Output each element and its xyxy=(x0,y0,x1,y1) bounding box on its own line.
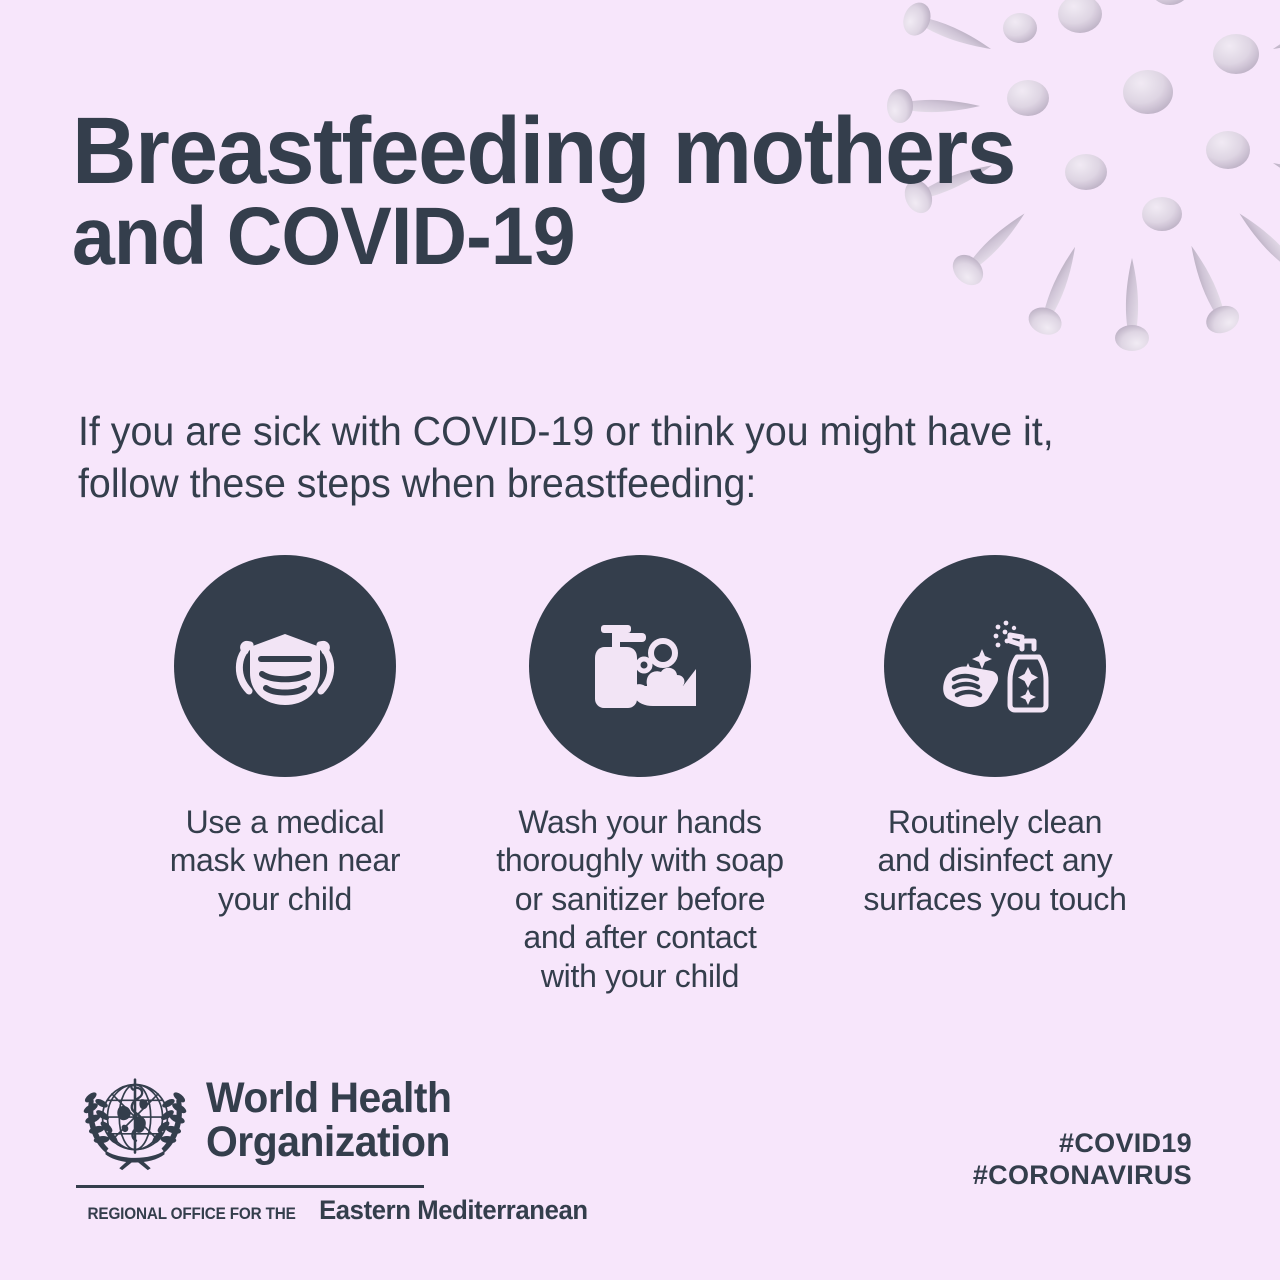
intro-line-2: follow these steps when breastfeeding: xyxy=(78,457,1124,509)
step-icon-circle xyxy=(174,555,396,777)
intro-line-1: If you are sick with COVID-19 or think y… xyxy=(78,405,1124,457)
spray-bottle-cleaning-icon xyxy=(930,601,1060,731)
caption-line: Routinely clean xyxy=(863,803,1126,841)
step-caption: Routinely clean and disinfect any surfac… xyxy=(863,803,1126,918)
who-name-line-1: World Health xyxy=(206,1077,451,1121)
who-wordmark: World Health Organization xyxy=(206,1077,451,1165)
hashtag-coronavirus: #CORONAVIRUS xyxy=(973,1160,1192,1192)
hashtags: #COVID19 #CORONAVIRUS xyxy=(973,1128,1192,1192)
who-divider xyxy=(76,1185,424,1188)
step-use-medical-mask: Use a medical mask when near your child xyxy=(108,555,463,918)
caption-line: with your child xyxy=(496,957,784,995)
hashtag-covid19: #COVID19 xyxy=(973,1128,1192,1160)
who-regional-office: REGIONAL OFFICE FOR THE Eastern Mediterr… xyxy=(76,1195,595,1226)
page-title: Breastfeeding mothers and COVID-19 xyxy=(72,108,1075,275)
caption-line: thoroughly with soap xyxy=(496,841,784,879)
caption-line: Use a medical xyxy=(170,803,401,841)
title-line-1: Breastfeeding mothers xyxy=(72,108,1015,195)
caption-line: and after contact xyxy=(496,918,784,956)
intro-text: If you are sick with COVID-19 or think y… xyxy=(78,405,1124,510)
medical-mask-icon xyxy=(220,601,350,731)
step-caption: Wash your hands thoroughly with soap or … xyxy=(496,803,784,995)
step-icon-circle xyxy=(884,555,1106,777)
steps-row: Use a medical mask when near your child xyxy=(60,555,1220,995)
caption-line: your child xyxy=(170,880,401,918)
step-caption: Use a medical mask when near your child xyxy=(170,803,401,918)
caption-line: and disinfect any xyxy=(863,841,1126,879)
step-clean-and-disinfect: Routinely clean and disinfect any surfac… xyxy=(818,555,1173,918)
who-emblem-icon xyxy=(76,1062,194,1180)
handwash-soap-dispenser-icon xyxy=(575,601,705,731)
poster-canvas: Breastfeeding mothers and COVID-19 If yo… xyxy=(0,0,1280,1280)
caption-line: surfaces you touch xyxy=(863,880,1126,918)
who-logo: World Health Organization REGIONAL OFFIC… xyxy=(76,1062,595,1226)
title-line-2: and COVID-19 xyxy=(72,199,1015,274)
region-prefix: REGIONAL OFFICE FOR THE xyxy=(88,1204,296,1224)
caption-line: Wash your hands xyxy=(496,803,784,841)
step-icon-circle xyxy=(529,555,751,777)
caption-line: mask when near xyxy=(170,841,401,879)
step-wash-your-hands: Wash your hands thoroughly with soap or … xyxy=(463,555,818,995)
caption-line: or sanitizer before xyxy=(496,880,784,918)
region-name: Eastern Mediterranean xyxy=(319,1195,588,1226)
who-logo-top: World Health Organization xyxy=(76,1062,464,1180)
who-name-line-2: Organization xyxy=(206,1121,451,1165)
